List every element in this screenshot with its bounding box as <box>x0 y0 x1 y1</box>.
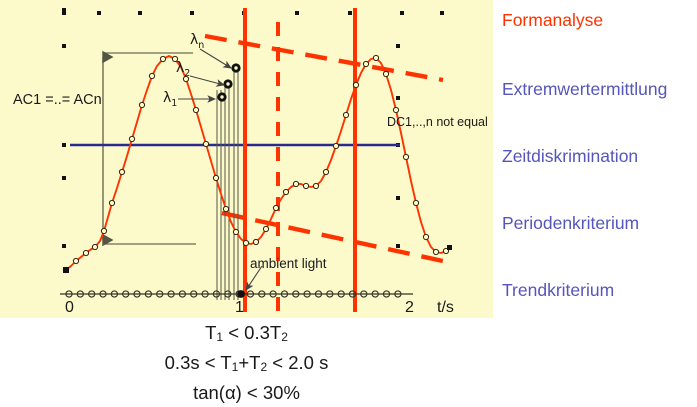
waveform-sample-point <box>223 206 228 211</box>
lambda-1-subscript: 1 <box>171 98 177 109</box>
waveform-sample-point <box>193 107 198 112</box>
criteria-label-4[interactable]: Trendkriterium <box>502 280 614 300</box>
dc-note-text: DC1,..,n not equal <box>387 115 488 129</box>
waveform-sample-point <box>413 200 418 205</box>
ambient-light-label: ambient light <box>250 256 327 271</box>
criteria-label-0[interactable]: Formanalyse <box>502 10 603 30</box>
axis-tick-1: 1 <box>235 299 244 317</box>
waveform-sample-point <box>83 250 88 255</box>
criteria-label-2[interactable]: Zeitdiskrimination <box>502 146 638 166</box>
time-axis <box>60 291 413 298</box>
lambda-n-label: λn <box>190 32 204 51</box>
equation-line-1: 0.3s < T1+T2 < 2.0 s <box>0 350 493 380</box>
waveform-sample-point <box>139 102 144 107</box>
lambda_n-dot-center <box>234 66 237 69</box>
axis-unit-text: t/s <box>437 299 454 316</box>
figure-root: AC1 =..= ACn DC1,..,n not equal ambient … <box>0 0 697 407</box>
curve-end-marker <box>447 245 452 250</box>
waveform-sample-point <box>423 234 428 239</box>
waveform-sample-point <box>383 71 388 76</box>
criteria-equations: T1 < 0.3T20.3s < T1+T2 < 2.0 stan(α) < 3… <box>0 320 493 405</box>
lambda_2-dot-center <box>226 82 229 85</box>
left-tick-column <box>62 44 66 248</box>
waveform-sample-point <box>363 61 368 66</box>
waveform-sample-point <box>393 107 398 112</box>
waveform-sample-point <box>263 226 268 231</box>
ac-equality-text: AC1 =..= ACn <box>13 92 102 108</box>
waveform-sample-point <box>273 205 278 210</box>
waveform-sample-point <box>253 239 258 244</box>
waveform-sample-point <box>119 169 124 174</box>
waveform-sample-point <box>213 175 218 180</box>
axis-tick-2: 2 <box>405 299 414 317</box>
dc-note-label: DC1,..,n not equal <box>387 115 488 129</box>
waveform-sample-point <box>403 154 408 159</box>
axis-unit-label: t/s <box>437 299 454 317</box>
waveform-sample-point <box>233 229 238 234</box>
waveform-sample-point <box>203 141 208 146</box>
waveform-sample-point <box>243 240 248 245</box>
waveform-sample-point <box>293 181 298 186</box>
waveform-sample-point <box>353 82 358 87</box>
waveform-sample-point <box>160 56 165 61</box>
waveform-sample-point <box>129 136 134 141</box>
lambda-2-subscript: 2 <box>184 68 190 79</box>
waveform-sample-point <box>323 169 328 174</box>
ac-equality-label: AC1 =..= ACn <box>13 92 102 108</box>
lambda-2-label: λ2 <box>176 60 190 79</box>
criteria-label-1[interactable]: Extremwertermittlung <box>502 79 667 99</box>
equation-line-0: T1 < 0.3T2 <box>0 320 493 350</box>
criteria-label-column: FormanalyseExtremwertermittlungZeitdiskr… <box>502 0 697 318</box>
waveform-sample-point <box>101 228 106 233</box>
lambda-n-subscript: n <box>198 40 204 51</box>
waveform-sample-point <box>433 249 438 254</box>
equation-line-2: tan(α) < 30% <box>0 380 493 405</box>
time-discrimination-lines <box>217 70 238 300</box>
axis-tick-0: 0 <box>65 299 74 317</box>
waveform-sample-point <box>343 112 348 117</box>
ppg-waveform-path <box>63 55 451 272</box>
waveform-sample-point <box>73 258 78 263</box>
lambda-1-label: λ1 <box>163 90 177 109</box>
waveform-sample-point <box>303 183 308 188</box>
trend-envelope-upper <box>205 36 443 80</box>
waveform-sample-point <box>283 189 288 194</box>
waveform-sample-point <box>92 244 97 249</box>
curve-start-marker <box>63 267 69 273</box>
waveform-sample-point <box>109 200 114 205</box>
waveform-sample-point <box>149 73 154 78</box>
waveform-sample-point <box>373 55 378 60</box>
criteria-label-3[interactable]: Periodenkriterium <box>502 213 639 233</box>
ambient-light-text: ambient light <box>250 256 327 271</box>
waveform-sample-point <box>313 183 318 188</box>
waveform-sample-point <box>333 143 338 148</box>
lambda_1-dot-center <box>220 95 223 98</box>
top-tick-row <box>62 8 444 15</box>
